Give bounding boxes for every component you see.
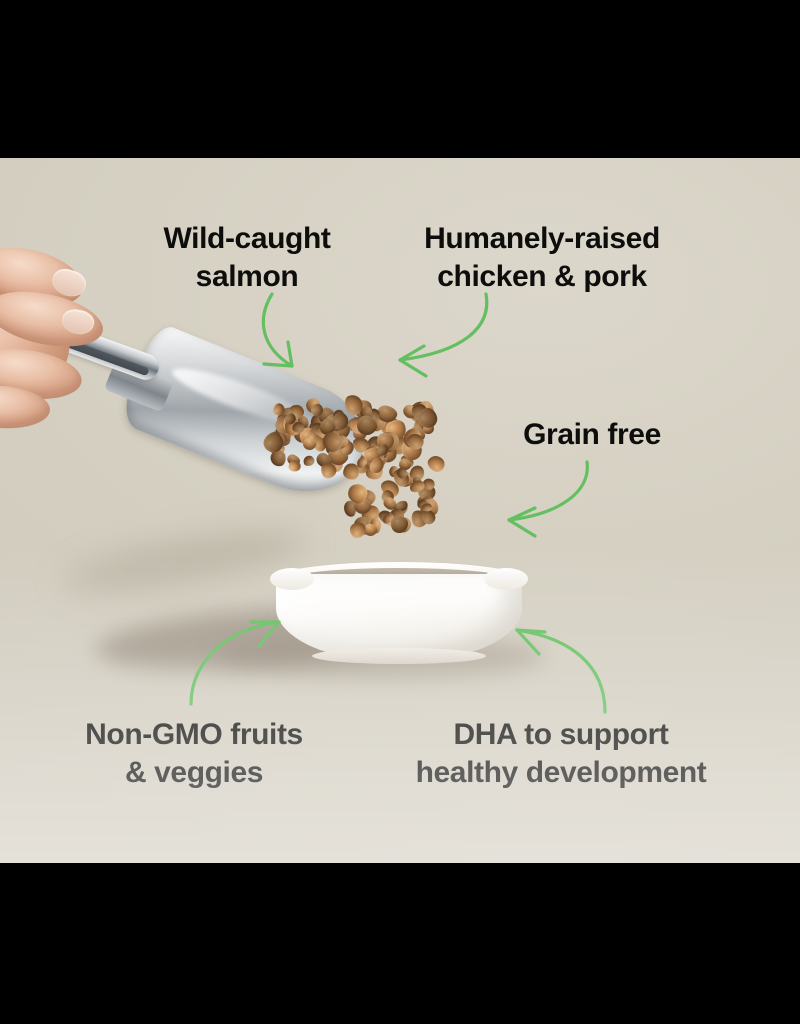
letterbox-bar-top (0, 0, 800, 158)
photo-canvas: Wild-caught salmon Humanely-raised chick… (0, 158, 800, 863)
pet-bowl (268, 556, 530, 664)
callout-label-chicken: Humanely-raised chicken & pork (392, 220, 692, 296)
bowl-lip-right (484, 568, 528, 590)
letterbox-bar-bottom (0, 863, 800, 1024)
kibble-piece (289, 460, 301, 471)
bowl-lip-left (270, 568, 314, 590)
callout-label-dha: DHA to support healthy development (411, 716, 711, 792)
curved-arrow-down-left-icon (495, 458, 605, 538)
kibble-in-scoop (272, 396, 432, 480)
callout-label-non-gmo: Non-GMO fruits & veggies (44, 716, 344, 792)
callout-label-salmon: Wild-caught salmon (97, 220, 397, 296)
kibble-piece (301, 454, 315, 467)
bowl-foot (312, 648, 486, 664)
callout-label-grain-free: Grain free (442, 416, 742, 454)
kibble-piece (421, 503, 433, 512)
product-feature-image: Wild-caught salmon Humanely-raised chick… (0, 0, 800, 1024)
